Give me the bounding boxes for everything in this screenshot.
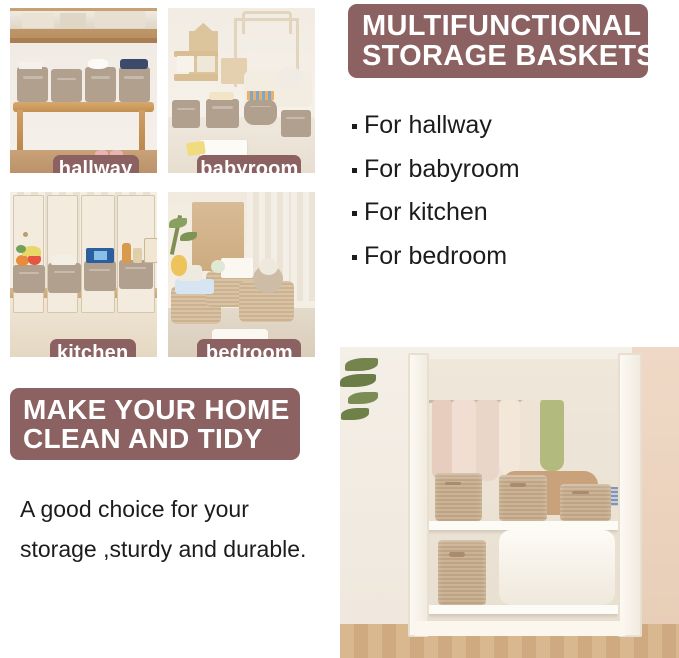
feature-label: For hallway	[364, 112, 492, 140]
feature-item: For babyroom	[352, 156, 672, 184]
kitchen-scene	[10, 192, 157, 357]
gallery-photo-kitchen: kitchen	[10, 192, 157, 357]
subtitle-line1: MAKE YOUR HOME	[23, 395, 287, 424]
feature-item: For bedroom	[352, 243, 672, 271]
infographic-root: hallway babyroom	[0, 0, 679, 658]
feature-label: For bedroom	[364, 243, 507, 271]
hero-photo-wardrobe	[340, 347, 679, 658]
gallery-photo-bedroom: bedroom	[168, 192, 315, 357]
gallery-caption-bedroom: bedroom	[197, 339, 301, 357]
bedroom-scene	[168, 192, 315, 357]
subtitle-line2: CLEAN AND TIDY	[23, 424, 287, 453]
subtitle-badge: MAKE YOUR HOME CLEAN AND TIDY	[10, 388, 300, 460]
bullet-square-icon	[352, 124, 357, 129]
main-title-line1: MULTIFUNCTIONAL	[362, 11, 634, 41]
bullet-square-icon	[352, 168, 357, 173]
wardrobe-scene	[340, 347, 679, 658]
gallery-photo-hallway: hallway	[10, 8, 157, 173]
feature-item: For hallway	[352, 112, 672, 140]
feature-list: For hallway For babyroom For kitchen For…	[352, 112, 672, 286]
gallery-caption-kitchen: kitchen	[50, 339, 136, 357]
gallery-photo-babyroom: babyroom	[168, 8, 315, 173]
feature-item: For kitchen	[352, 199, 672, 227]
hallway-scene	[10, 8, 157, 173]
bullet-square-icon	[352, 211, 357, 216]
bullet-square-icon	[352, 255, 357, 260]
description-text: A good choice for your storage ,sturdy a…	[20, 490, 320, 569]
babyroom-scene	[168, 8, 315, 173]
gallery-caption-babyroom: babyroom	[197, 155, 301, 173]
main-title-badge: MULTIFUNCTIONAL STORAGE BASKETS	[348, 4, 648, 78]
feature-label: For kitchen	[364, 199, 488, 227]
main-title-line2: STORAGE BASKETS	[362, 41, 634, 71]
feature-label: For babyroom	[364, 156, 520, 184]
gallery-caption-hallway: hallway	[53, 155, 139, 173]
